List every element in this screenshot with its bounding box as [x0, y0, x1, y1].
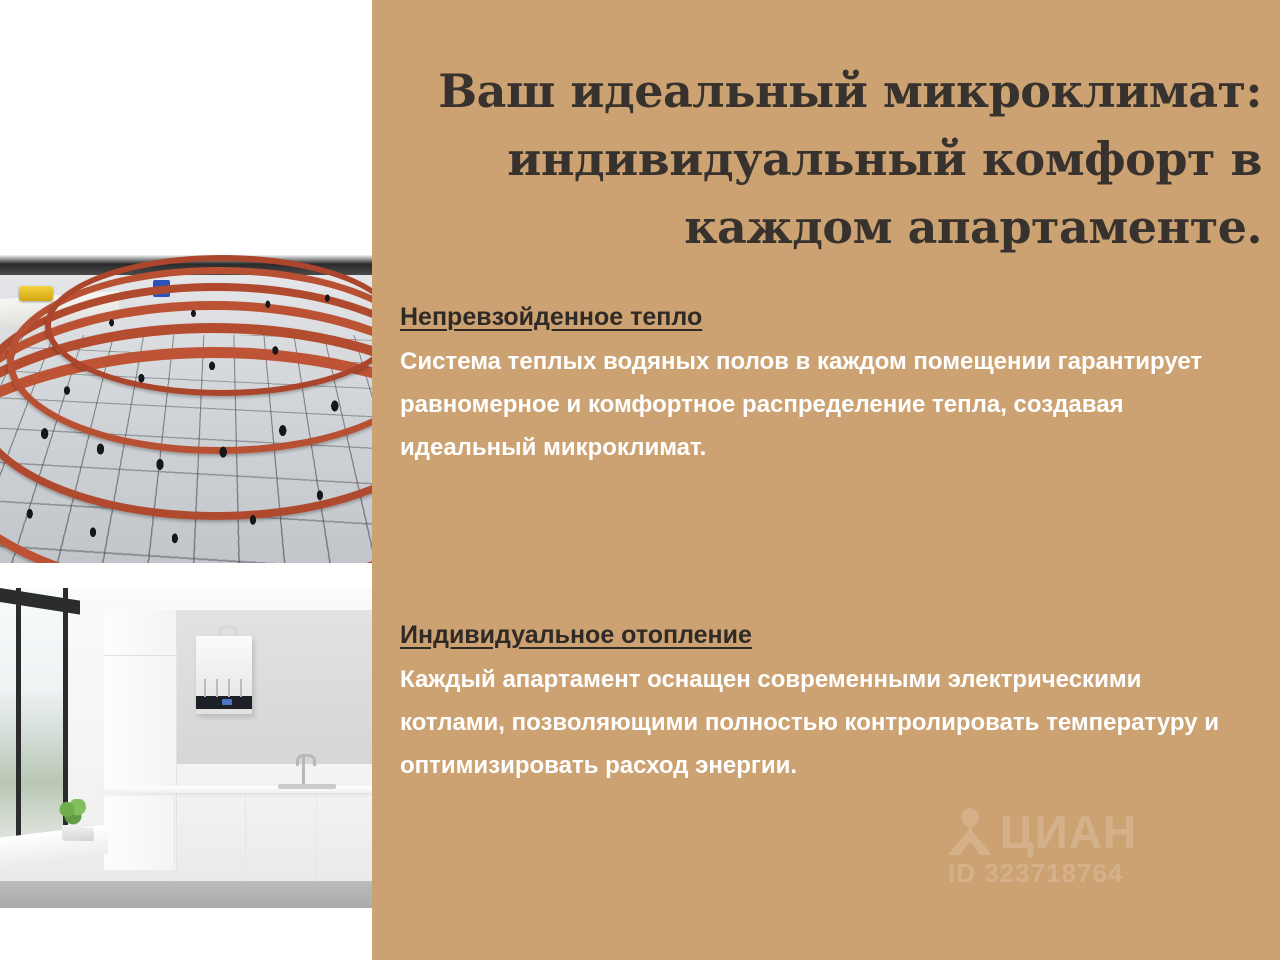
watermark-brand: ЦИАН [1000, 808, 1137, 856]
window-mullion [16, 588, 21, 838]
boiler-connection-pipes [200, 679, 248, 697]
kitchen-boiler-photo [0, 588, 372, 908]
pipe-clips [0, 255, 372, 563]
slide-headline: Ваш идеальный микроклимат: индивидуальны… [400, 57, 1262, 261]
content-panel: Ваш идеальный микроклимат: индивидуальны… [372, 0, 1280, 960]
map-pin-chevron [948, 828, 992, 855]
section-title: Непревзойденное тепло [400, 300, 1245, 334]
underfloor-heating-photo [0, 255, 372, 563]
plant-icon [58, 799, 88, 825]
cian-watermark: ЦИАН ID 323718764 [948, 808, 1188, 888]
kitchen-sink [278, 784, 336, 789]
section-individual-heating: Индивидуальное отопление Каждый апартаме… [400, 618, 1245, 787]
media-column [0, 0, 372, 960]
section-body: Каждый апартамент оснащен современными э… [400, 658, 1240, 787]
plant-pot-secondary [80, 828, 94, 841]
promo-slide: Ваш идеальный микроклимат: индивидуальны… [0, 0, 1280, 960]
wall-mounted-boiler [196, 636, 252, 714]
watermark-listing-id: ID 323718764 [948, 858, 1188, 888]
boiler-display-icon [222, 699, 232, 705]
map-pin-chevron-cut [959, 842, 981, 856]
faucet-spout-icon [296, 754, 316, 766]
section-title: Индивидуальное отопление [400, 618, 1245, 652]
cabinet-seam [104, 655, 176, 656]
section-body: Система теплых водяных полов в каждом по… [400, 340, 1240, 469]
kitchen-scene [0, 588, 372, 908]
watermark-brand-row: ЦИАН [948, 808, 1188, 856]
kitchen-floor [0, 881, 372, 908]
base-cabinets [104, 794, 372, 880]
map-pin-head [957, 804, 982, 829]
map-pin-icon [948, 808, 992, 856]
underfloor-heating-scene [0, 255, 372, 563]
section-unmatched-warmth: Непревзойденное тепло Система теплых вод… [400, 300, 1245, 469]
plant-pot [62, 825, 82, 841]
boiler-control-panel [196, 696, 252, 709]
